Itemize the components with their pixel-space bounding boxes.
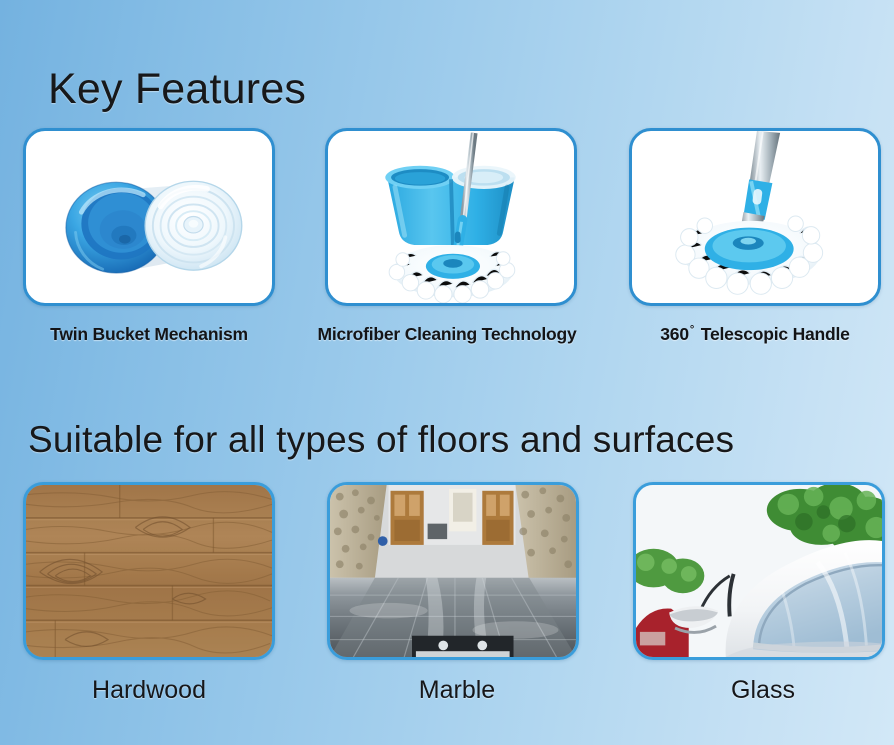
surface-cell-glass: Glass (596, 482, 894, 705)
key-features-row: Twin Bucket Mechanism (0, 128, 894, 345)
surface-caption-hardwood: Hardwood (92, 676, 206, 705)
degree-symbol-icon: ° (690, 324, 694, 336)
feature-caption-microfiber: Microfiber Cleaning Technology (317, 324, 576, 345)
twin-bucket-illustration (26, 131, 272, 303)
surface-caption-glass: Glass (731, 676, 795, 705)
marble-floor-photo (330, 485, 576, 657)
product-infographic: Key Features (0, 0, 894, 745)
feature-caption-telescopic: 360° Telescopic Handle (660, 324, 849, 345)
feature-cell-telescopic: 360° Telescopic Handle (596, 128, 894, 345)
feature-cell-microfiber: Microfiber Cleaning Technology (298, 128, 596, 345)
feature-cell-twin-bucket: Twin Bucket Mechanism (0, 128, 298, 345)
surface-card-marble[interactable] (327, 482, 579, 660)
feature-card-telescopic[interactable] (629, 128, 881, 306)
surface-card-glass[interactable] (633, 482, 885, 660)
surface-cell-hardwood: Hardwood (0, 482, 298, 705)
surfaces-row: Hardwood (0, 482, 894, 705)
surface-cell-marble: Marble (298, 482, 596, 705)
car-glass-photo (636, 485, 882, 657)
surface-caption-marble: Marble (419, 676, 495, 705)
key-features-heading: Key Features (48, 64, 306, 114)
feature-caption-degrees-value: 360 (660, 324, 689, 344)
suitable-surfaces-heading: Suitable for all types of floors and sur… (28, 417, 734, 463)
feature-card-microfiber[interactable] (325, 128, 577, 306)
hardwood-floor-photo (26, 485, 272, 657)
bucket-with-mop-illustration (328, 131, 574, 303)
surface-card-hardwood[interactable] (23, 482, 275, 660)
telescopic-handle-illustration (632, 131, 878, 303)
feature-card-twin-bucket[interactable] (23, 128, 275, 306)
feature-caption-twin-bucket: Twin Bucket Mechanism (50, 324, 248, 345)
feature-caption-telescopic-rest: Telescopic Handle (701, 324, 850, 344)
